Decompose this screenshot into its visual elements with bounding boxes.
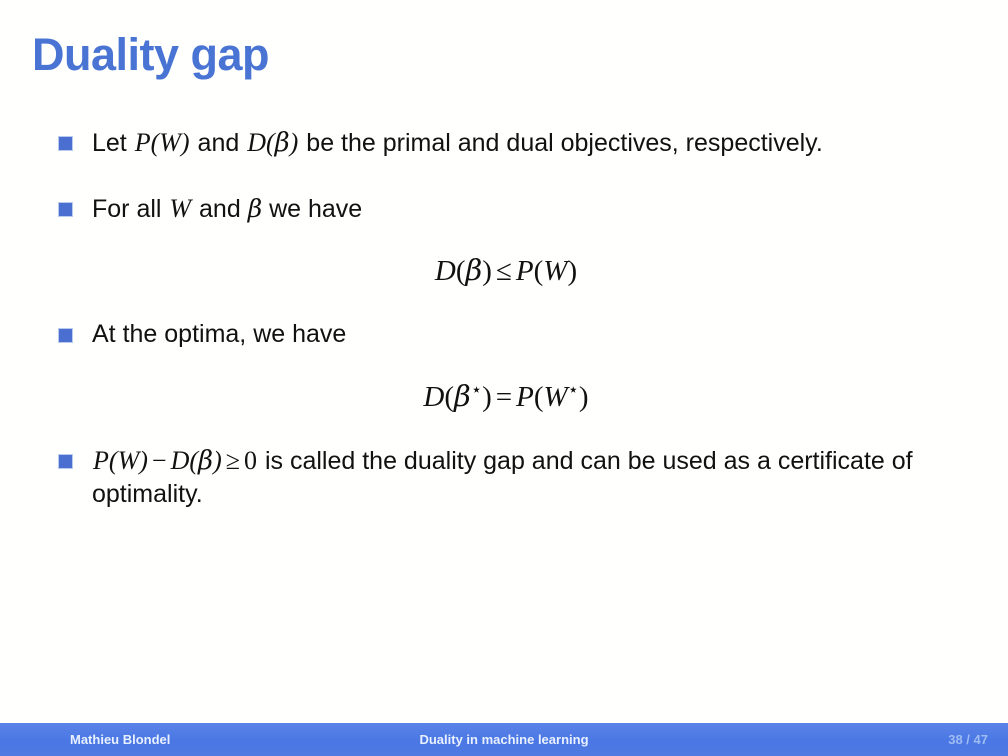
equation-lhs-argument: β (466, 253, 483, 287)
equation-body: D(β⋆)=P(W⋆) (423, 379, 588, 414)
bullet-fragment-text: and (192, 195, 248, 223)
equation-strong-duality: D(β⋆)=P(W⋆) (56, 379, 996, 414)
slide: Duality gap Let P(W) and D(β) be the pri… (0, 0, 1008, 756)
equation-body: D(β)≤P(W) (435, 253, 577, 288)
equation-lhs-star-superscript: ⋆ (471, 379, 482, 400)
bullet-text: P(W)−D(β)≥0 is called the duality gap an… (92, 444, 996, 511)
spacer (56, 288, 996, 318)
bullet-item-at-the-optima: At the optima, we have (56, 318, 996, 351)
bullet-item-duality-gap-certificate: P(W)−D(β)≥0 is called the duality gap an… (56, 444, 996, 511)
paren-close: ) (482, 381, 492, 413)
spacer (56, 351, 996, 379)
inline-math-D-of-beta: D(β) (246, 128, 299, 157)
bullet-fragment-text: and (191, 129, 247, 157)
equation-rhs-argument: W (543, 255, 567, 287)
bullet-item-primal-dual-definition: Let P(W) and D(β) be the primal and dual… (56, 126, 996, 160)
paren-close: ) (567, 255, 577, 287)
inline-math-duality-gap-inequality: P(W)−D(β)≥0 (92, 446, 258, 475)
equation-rhs-function: P (516, 255, 534, 287)
spacer (56, 160, 996, 192)
square-bullet-icon (59, 455, 72, 468)
equation-relation: ≤ (492, 255, 516, 287)
bullet-text: At the optima, we have (92, 318, 996, 351)
spacer (56, 414, 996, 444)
bullet-fragment-text: Let (92, 129, 134, 157)
footer-presentation-title: Duality in machine learning (0, 732, 1008, 747)
footer-bar: Mathieu Blondel Duality in machine learn… (0, 723, 1008, 756)
paren-open: ( (534, 381, 544, 413)
equation-lhs-function: D (423, 381, 444, 413)
equation-lhs-argument: β (454, 379, 471, 413)
paren-open: ( (456, 255, 466, 287)
square-bullet-icon (59, 329, 72, 342)
square-bullet-icon (59, 137, 72, 150)
inline-math-beta: β (248, 194, 262, 223)
footer-page-indicator: 38 / 47 (948, 732, 988, 747)
bullet-fragment-text: we have (262, 195, 362, 223)
bullet-item-for-all-w-beta: For all W and β we have (56, 192, 996, 226)
slide-body: Let P(W) and D(β) be the primal and dual… (56, 126, 996, 511)
equation-rhs-argument: W (543, 381, 567, 413)
equation-rhs-function: P (516, 381, 534, 413)
paren-close: ) (579, 381, 589, 413)
paren-open: ( (444, 381, 454, 413)
equation-rhs-star-superscript: ⋆ (568, 379, 579, 400)
equation-lhs-function: D (435, 255, 456, 287)
bullet-fragment-text: For all (92, 195, 168, 223)
spacer (56, 227, 996, 253)
paren-open: ( (534, 255, 544, 287)
equation-weak-duality: D(β)≤P(W) (56, 253, 996, 288)
bullet-fragment-text: be the primal and dual objectives, respe… (299, 129, 822, 157)
bullet-text: For all W and β we have (92, 192, 996, 226)
bullet-text: Let P(W) and D(β) be the primal and dual… (92, 126, 996, 160)
square-bullet-icon (59, 203, 72, 216)
page-title: Duality gap (32, 30, 269, 80)
inline-math-P-of-W: P(W) (134, 128, 191, 157)
inline-math-W: W (168, 194, 192, 223)
equation-relation: = (492, 381, 516, 413)
paren-close: ) (482, 255, 492, 287)
